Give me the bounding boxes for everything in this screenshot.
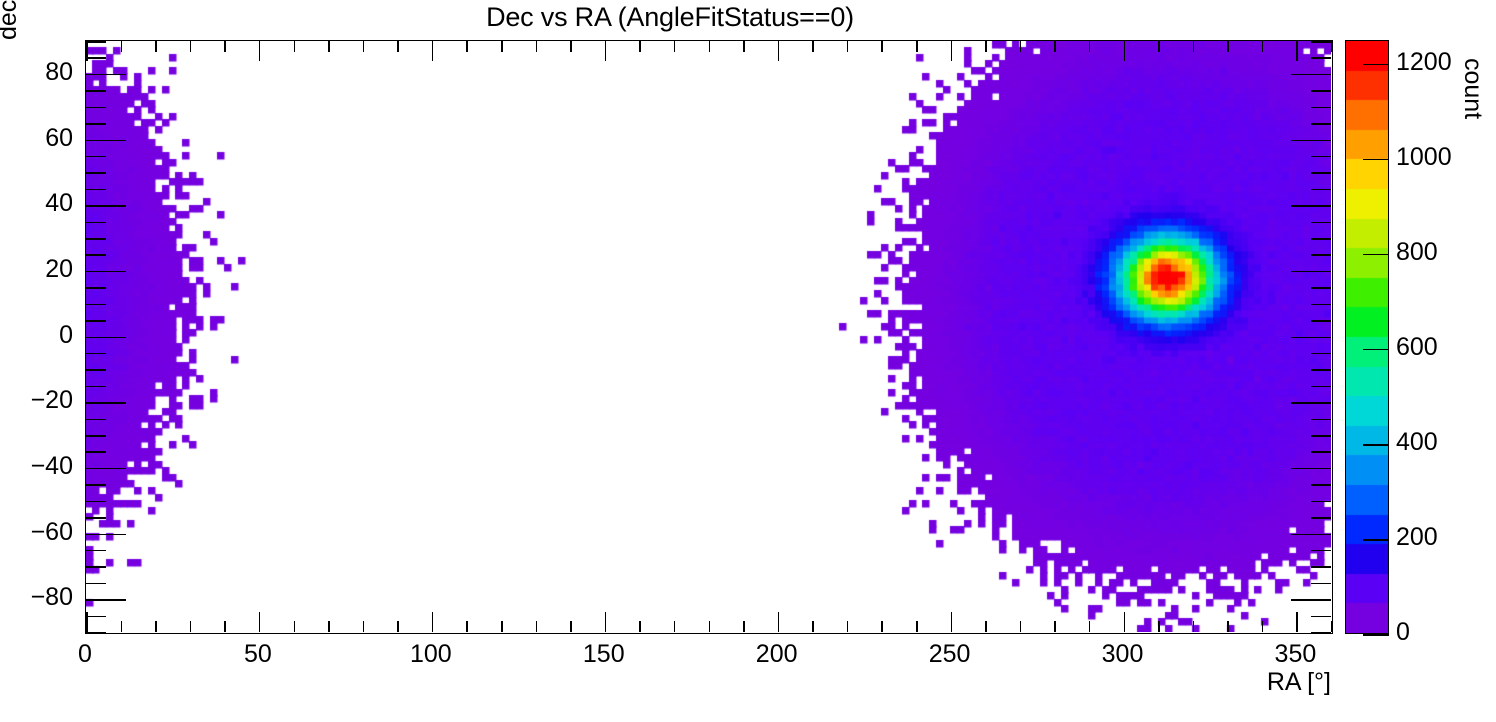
x-tick-top bbox=[363, 41, 365, 52]
y-tick-left bbox=[86, 599, 126, 601]
y-tick-left bbox=[86, 484, 106, 486]
x-tick-top bbox=[778, 41, 780, 61]
plot-canvas-root: Dec vs RA (AngleFitStatus==0) 0501001502… bbox=[0, 0, 1496, 722]
y-tick-left bbox=[86, 566, 106, 568]
x-tick-top bbox=[1158, 41, 1160, 52]
y-tick-left bbox=[86, 517, 106, 519]
x-tick-bottom bbox=[1227, 621, 1229, 632]
color-bar-tick-label: 200 bbox=[1396, 523, 1438, 552]
y-tick-right bbox=[1291, 205, 1331, 207]
page-title: Dec vs RA (AngleFitStatus==0) bbox=[0, 2, 1340, 33]
color-bar-tick bbox=[1363, 159, 1389, 161]
x-tick-top bbox=[121, 41, 123, 52]
y-tick-right bbox=[1291, 468, 1331, 470]
x-tick-top bbox=[1262, 41, 1264, 52]
x-tick-bottom bbox=[328, 621, 330, 632]
x-axis-title: RA [°] bbox=[1267, 668, 1331, 697]
x-tick-top bbox=[812, 41, 814, 52]
x-tick-top bbox=[985, 41, 987, 52]
x-tick-top bbox=[1124, 41, 1126, 61]
x-tick-top bbox=[605, 41, 607, 61]
y-tick-left bbox=[86, 402, 126, 404]
y-tick-right bbox=[1291, 74, 1331, 76]
y-tick-left bbox=[86, 123, 106, 125]
y-tick-right bbox=[1311, 90, 1331, 92]
x-tick-bottom bbox=[1054, 621, 1056, 632]
plot-frame bbox=[85, 40, 1333, 634]
y-tick-right bbox=[1311, 386, 1331, 388]
x-tick-top bbox=[1089, 41, 1091, 52]
y-tick-left bbox=[86, 205, 126, 207]
y-tick-left bbox=[86, 386, 106, 388]
color-bar-tick bbox=[1363, 349, 1389, 351]
x-tick-bottom bbox=[916, 621, 918, 632]
y-tick-right bbox=[1311, 616, 1331, 618]
x-tick-bottom bbox=[674, 621, 676, 632]
y-tick-right bbox=[1291, 337, 1331, 339]
color-bar-tick-label: 600 bbox=[1396, 333, 1438, 362]
y-tick-left bbox=[86, 222, 106, 224]
y-tick-left bbox=[86, 90, 106, 92]
x-tick-bottom bbox=[985, 621, 987, 632]
color-bar-tick bbox=[1363, 64, 1389, 66]
y-tick-left bbox=[86, 369, 106, 371]
y-tick-left bbox=[86, 320, 106, 322]
y-tick-label: −20 bbox=[0, 386, 73, 415]
x-tick-bottom bbox=[536, 621, 538, 632]
x-tick-bottom bbox=[190, 621, 192, 632]
y-tick-right bbox=[1311, 254, 1331, 256]
x-tick-bottom bbox=[1331, 621, 1333, 632]
x-tick-bottom bbox=[1262, 621, 1264, 632]
x-tick-bottom bbox=[397, 621, 399, 632]
y-axis-title: declination [°] bbox=[0, 0, 23, 40]
color-bar-tick-label: 1200 bbox=[1396, 48, 1452, 77]
x-tick-top bbox=[881, 41, 883, 52]
y-tick-label: 60 bbox=[0, 124, 73, 153]
x-tick-top bbox=[397, 41, 399, 52]
x-tick-bottom bbox=[881, 621, 883, 632]
x-tick-bottom bbox=[432, 612, 434, 632]
y-tick-left bbox=[86, 140, 126, 142]
y-tick-right bbox=[1311, 123, 1331, 125]
y-tick-left bbox=[86, 189, 106, 191]
y-tick-left bbox=[86, 337, 126, 339]
x-tick-top bbox=[1054, 41, 1056, 52]
y-tick-label: 40 bbox=[0, 189, 73, 218]
x-tick-top bbox=[709, 41, 711, 52]
x-tick-top bbox=[1331, 41, 1333, 52]
y-tick-right bbox=[1291, 599, 1331, 601]
x-tick-bottom bbox=[155, 621, 157, 632]
x-tick-bottom bbox=[121, 621, 123, 632]
x-tick-label: 50 bbox=[198, 640, 318, 669]
color-bar-tick bbox=[1363, 444, 1389, 446]
y-tick-right bbox=[1311, 156, 1331, 158]
y-tick-left bbox=[86, 353, 106, 355]
x-tick-label: 350 bbox=[1235, 640, 1355, 669]
y-tick-left bbox=[86, 57, 106, 59]
y-tick-label: 80 bbox=[0, 58, 73, 87]
color-bar-tick-label: 1000 bbox=[1396, 143, 1452, 172]
color-bar-tick bbox=[1363, 539, 1389, 541]
x-tick-top bbox=[294, 41, 296, 52]
y-tick-label: −60 bbox=[0, 518, 73, 547]
x-tick-bottom bbox=[1089, 621, 1091, 632]
x-tick-bottom bbox=[294, 621, 296, 632]
x-tick-top bbox=[951, 41, 953, 61]
y-tick-right bbox=[1311, 517, 1331, 519]
y-tick-left bbox=[86, 156, 106, 158]
y-tick-left bbox=[86, 172, 106, 174]
y-tick-label: 0 bbox=[0, 321, 73, 350]
x-tick-bottom bbox=[1020, 621, 1022, 632]
y-tick-right bbox=[1311, 172, 1331, 174]
x-tick-bottom bbox=[570, 621, 572, 632]
x-tick-top bbox=[155, 41, 157, 52]
x-tick-bottom bbox=[259, 612, 261, 632]
y-tick-left bbox=[86, 238, 106, 240]
y-tick-right bbox=[1311, 238, 1331, 240]
y-tick-left bbox=[86, 451, 106, 453]
x-tick-top bbox=[466, 41, 468, 52]
color-bar-tick-label: 400 bbox=[1396, 428, 1438, 457]
x-tick-top bbox=[1227, 41, 1229, 52]
x-tick-bottom bbox=[778, 612, 780, 632]
color-bar-title: count bbox=[1458, 58, 1487, 119]
y-tick-left bbox=[86, 271, 126, 273]
y-tick-left bbox=[86, 534, 126, 536]
x-tick-bottom bbox=[639, 621, 641, 632]
color-bar-tick bbox=[1363, 254, 1389, 256]
x-tick-bottom bbox=[1158, 621, 1160, 632]
y-tick-left bbox=[86, 287, 106, 289]
x-tick-bottom bbox=[466, 621, 468, 632]
x-tick-top bbox=[328, 41, 330, 52]
y-tick-left bbox=[86, 304, 106, 306]
y-tick-right bbox=[1311, 304, 1331, 306]
y-tick-right bbox=[1291, 271, 1331, 273]
x-tick-top bbox=[847, 41, 849, 52]
x-tick-top bbox=[570, 41, 572, 52]
y-tick-left bbox=[86, 632, 106, 634]
y-tick-left bbox=[86, 107, 106, 109]
y-tick-left bbox=[86, 419, 106, 421]
y-tick-left bbox=[86, 41, 106, 43]
y-tick-right bbox=[1311, 57, 1331, 59]
y-tick-right bbox=[1311, 583, 1331, 585]
x-tick-label: 200 bbox=[717, 640, 837, 669]
y-tick-right bbox=[1311, 287, 1331, 289]
x-tick-bottom bbox=[709, 621, 711, 632]
x-tick-label: 150 bbox=[544, 640, 664, 669]
y-tick-right bbox=[1311, 369, 1331, 371]
x-tick-bottom bbox=[812, 621, 814, 632]
x-tick-bottom bbox=[951, 612, 953, 632]
y-tick-right bbox=[1311, 550, 1331, 552]
x-tick-bottom bbox=[605, 612, 607, 632]
x-tick-bottom bbox=[1124, 612, 1126, 632]
y-tick-left bbox=[86, 583, 106, 585]
y-tick-right bbox=[1311, 435, 1331, 437]
y-tick-right bbox=[1311, 353, 1331, 355]
y-tick-right bbox=[1291, 140, 1331, 142]
x-tick-top bbox=[1020, 41, 1022, 52]
x-tick-bottom bbox=[743, 621, 745, 632]
histogram-2d-heatmap bbox=[86, 41, 1331, 632]
y-tick-right bbox=[1311, 189, 1331, 191]
x-tick-top bbox=[432, 41, 434, 61]
x-tick-top bbox=[1193, 41, 1195, 52]
y-tick-right bbox=[1311, 41, 1331, 43]
x-tick-label: 250 bbox=[890, 640, 1010, 669]
x-tick-bottom bbox=[224, 621, 226, 632]
x-tick-label: 0 bbox=[25, 640, 145, 669]
y-tick-label: −40 bbox=[0, 452, 73, 481]
y-tick-right bbox=[1311, 222, 1331, 224]
y-tick-left bbox=[86, 616, 106, 618]
x-tick-top bbox=[1296, 41, 1298, 61]
y-tick-right bbox=[1291, 534, 1331, 536]
x-tick-top bbox=[224, 41, 226, 52]
y-tick-left bbox=[86, 468, 126, 470]
x-tick-bottom bbox=[1193, 621, 1195, 632]
y-tick-right bbox=[1311, 419, 1331, 421]
color-bar bbox=[1345, 40, 1389, 634]
x-tick-top bbox=[743, 41, 745, 52]
y-tick-label: −80 bbox=[0, 583, 73, 612]
y-tick-left bbox=[86, 74, 126, 76]
color-bar-tick-label: 0 bbox=[1396, 618, 1410, 647]
x-tick-bottom bbox=[1296, 612, 1298, 632]
y-tick-left bbox=[86, 550, 106, 552]
x-tick-label: 300 bbox=[1063, 640, 1183, 669]
y-tick-right bbox=[1291, 402, 1331, 404]
y-tick-label: 20 bbox=[0, 255, 73, 284]
x-tick-bottom bbox=[363, 621, 365, 632]
x-tick-top bbox=[536, 41, 538, 52]
y-tick-right bbox=[1311, 451, 1331, 453]
color-bar-tick bbox=[1363, 634, 1389, 636]
x-tick-top bbox=[674, 41, 676, 52]
x-tick-top bbox=[916, 41, 918, 52]
y-tick-right bbox=[1311, 566, 1331, 568]
y-tick-right bbox=[1311, 501, 1331, 503]
x-tick-top bbox=[259, 41, 261, 61]
y-tick-left bbox=[86, 435, 106, 437]
x-tick-bottom bbox=[847, 621, 849, 632]
y-tick-right bbox=[1311, 320, 1331, 322]
y-tick-right bbox=[1311, 632, 1331, 634]
x-tick-top bbox=[639, 41, 641, 52]
x-tick-top bbox=[501, 41, 503, 52]
x-tick-bottom bbox=[501, 621, 503, 632]
y-tick-right bbox=[1311, 107, 1331, 109]
x-tick-label: 100 bbox=[371, 640, 491, 669]
y-tick-right bbox=[1311, 484, 1331, 486]
color-bar-gradient bbox=[1346, 41, 1388, 633]
color-bar-tick-label: 800 bbox=[1396, 238, 1438, 267]
y-tick-left bbox=[86, 501, 106, 503]
x-tick-top bbox=[190, 41, 192, 52]
y-tick-left bbox=[86, 254, 106, 256]
